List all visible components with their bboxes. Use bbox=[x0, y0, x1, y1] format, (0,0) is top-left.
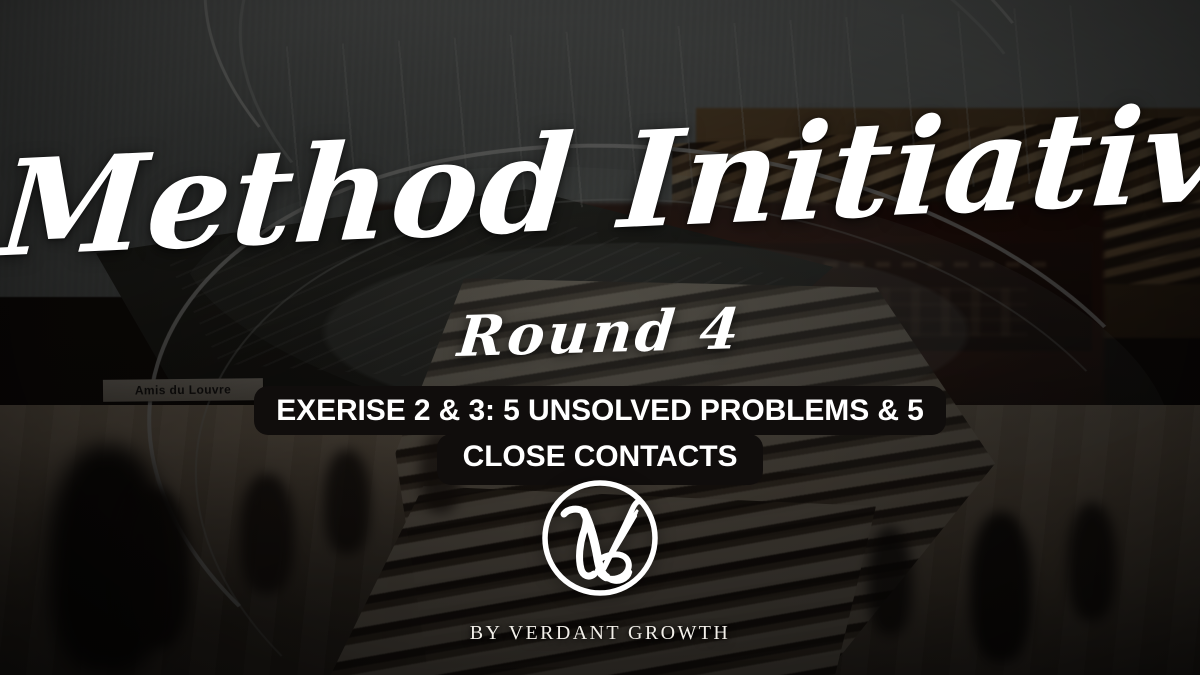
title-card: Amis du Louvre Method Initiative Round 4… bbox=[0, 0, 1200, 675]
vg-monogram-icon bbox=[538, 476, 662, 600]
exercise-banner: EXERISE 2 & 3: 5 UNSOLVED PROBLEMS & 5 C… bbox=[0, 386, 1200, 485]
content-layer: Method Initiative Round 4 EXERISE 2 & 3:… bbox=[0, 0, 1200, 675]
byline: BY VERDANT GROWTH bbox=[0, 622, 1200, 645]
brand-logo bbox=[538, 476, 662, 600]
page-title: Method Initiative bbox=[0, 88, 1200, 278]
exercise-banner-line-1: EXERISE 2 & 3: 5 UNSOLVED PROBLEMS & 5 bbox=[254, 386, 945, 435]
round-subtitle: Round 4 bbox=[0, 283, 1200, 383]
